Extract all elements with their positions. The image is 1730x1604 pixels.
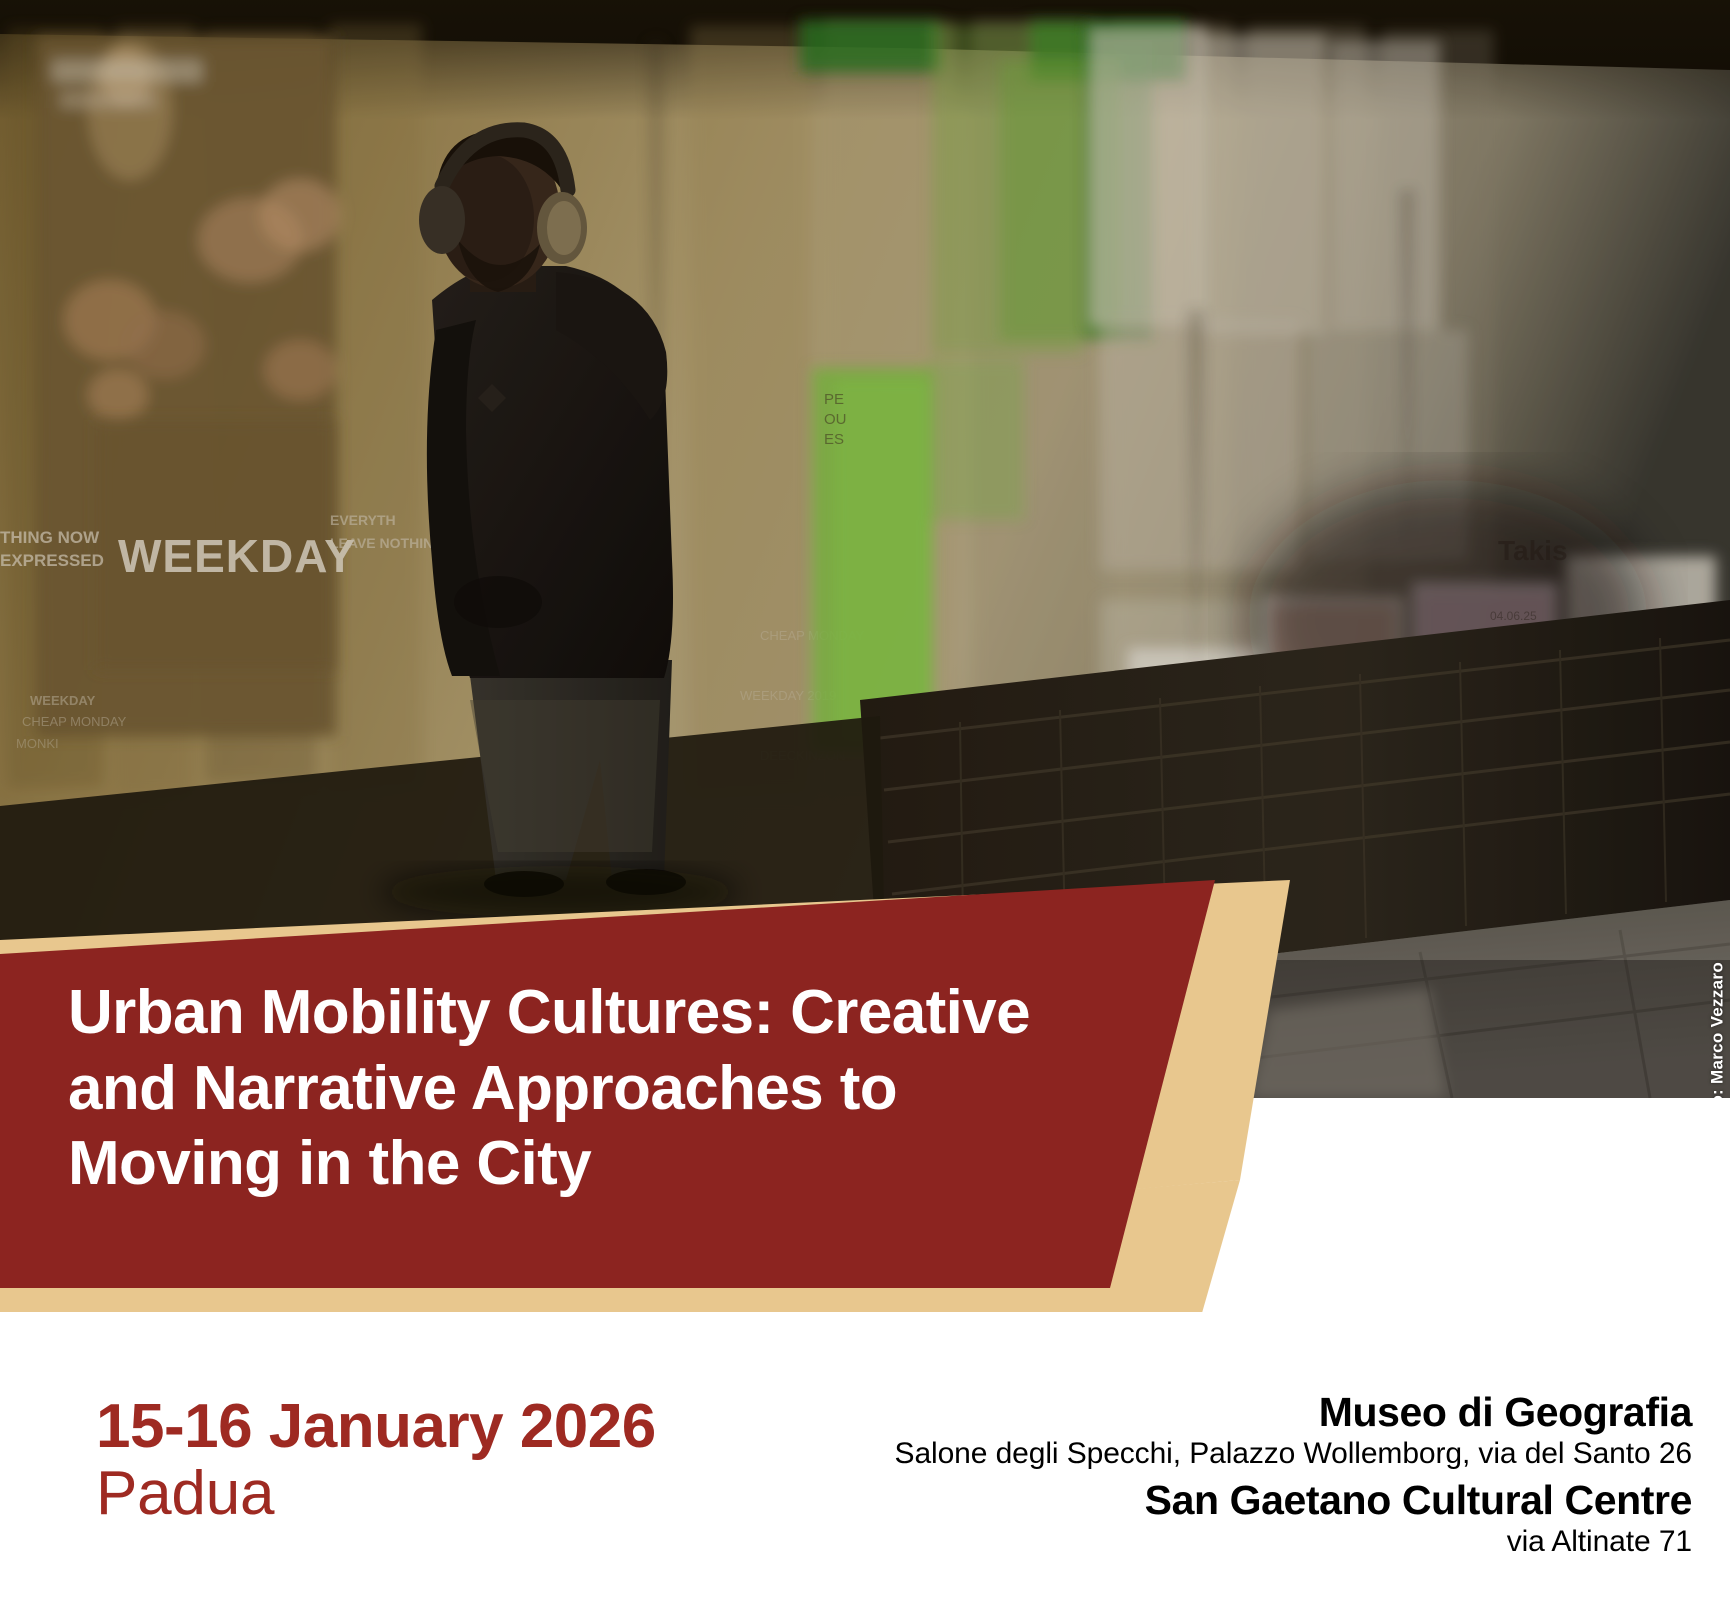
poster-title: Urban Mobility Cultures: Creative and Na… bbox=[68, 975, 1173, 1202]
poster-footer: 15-16 January 2026 Padua Museo di Geogra… bbox=[0, 1312, 1730, 1604]
event-venues: Museo di Geografia Salone degli Specchi,… bbox=[895, 1390, 1692, 1560]
title-line-2: and Narrative Approaches to bbox=[68, 1051, 1173, 1127]
event-city: Padua bbox=[96, 1459, 656, 1528]
title-line-1: Urban Mobility Cultures: Creative bbox=[68, 975, 1173, 1051]
venue-address: Salone degli Specchi, Palazzo Wollemborg… bbox=[895, 1436, 1692, 1472]
venue-item: Museo di Geografia Salone degli Specchi,… bbox=[895, 1390, 1692, 1472]
event-dates: 15-16 January 2026 bbox=[96, 1394, 656, 1459]
event-poster: WEEKDAY THING NOW EXPRESSED EVERYTH LEAV… bbox=[0, 0, 1730, 1604]
event-when: 15-16 January 2026 Padua bbox=[96, 1394, 656, 1529]
venue-item: San Gaetano Cultural Centre via Altinate… bbox=[895, 1478, 1692, 1560]
venue-name: Museo di Geografia bbox=[895, 1390, 1692, 1436]
venue-address: via Altinate 71 bbox=[895, 1524, 1692, 1560]
title-line-3: Moving in the City bbox=[68, 1126, 1173, 1202]
venue-name: San Gaetano Cultural Centre bbox=[895, 1478, 1692, 1524]
